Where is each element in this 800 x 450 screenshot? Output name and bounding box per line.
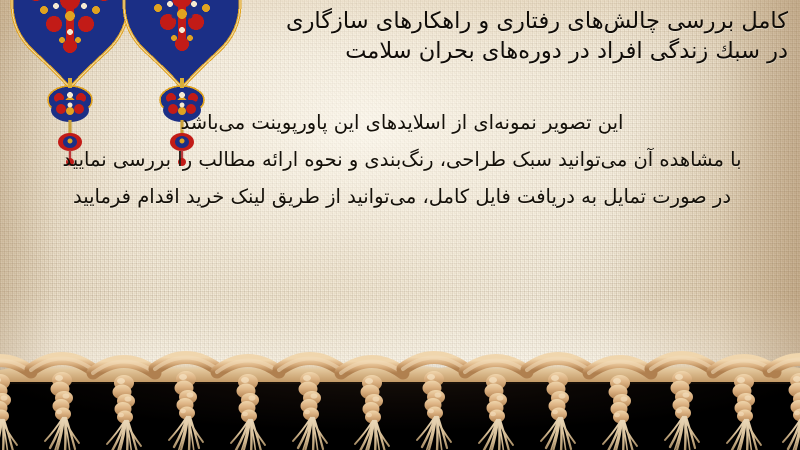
slide-canvas: کامل بررسی چالش‌های رفتاری و راهکارهای س…: [0, 0, 800, 450]
body-line-2: با مشاهده آن می‌توانید سبک طراحی، رنگ‌بن…: [12, 141, 792, 178]
title-line-2: در سبك زندگی افراد در دوره‌های بحران سلا…: [198, 36, 788, 66]
text-layer: کامل بررسی چالش‌های رفتاری و راهکارهای س…: [0, 0, 800, 378]
body-line-3: در صورت تمایل به دریافت فایل کامل، می‌تو…: [12, 178, 792, 215]
slide-title: کامل بررسی چالش‌های رفتاری و راهکارهای س…: [198, 6, 788, 66]
knotted-carpet-fringe: [0, 348, 800, 450]
slide-body: این تصویر نمونه‌ای از اسلایدهای این پاور…: [12, 104, 792, 215]
title-line-1: کامل بررسی چالش‌های رفتاری و راهکارهای س…: [198, 6, 788, 36]
body-line-1: این تصویر نمونه‌ای از اسلایدهای این پاور…: [12, 104, 792, 141]
